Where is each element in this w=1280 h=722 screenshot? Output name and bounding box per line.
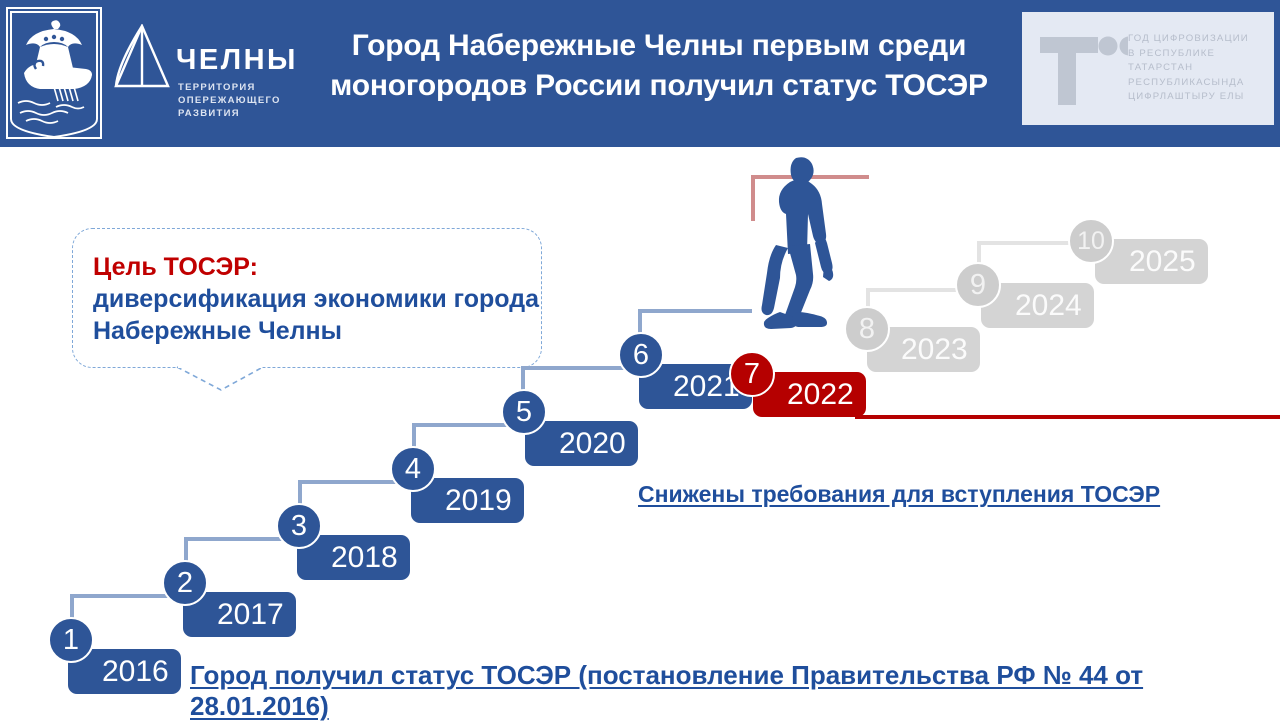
step-number-label: 9 [970, 269, 986, 302]
city-boat-emblem-icon [6, 7, 102, 139]
step-number-label: 7 [744, 358, 760, 391]
digital-year-badge: ГОД ЦИФРОВИЗАЦИИ В РЕСПУБЛИКЕ ТАТАРСТАН … [1022, 12, 1274, 125]
note-link-status[interactable]: Город получил статус ТОСЭР (постановлени… [190, 660, 1280, 722]
digital-year-text: ГОД ЦИФРОВИЗАЦИИ В РЕСПУБЛИКЕ ТАТАРСТАН … [1128, 32, 1249, 105]
step-circle-2[interactable]: 2 [162, 560, 208, 606]
step-circle-3[interactable]: 3 [276, 503, 322, 549]
brand-tagline: ТЕРРИТОРИЯ ОПЕРЕЖАЮЩЕГО РАЗВИТИЯ [178, 81, 287, 120]
chelny-brand-logo: ЧЕЛНЫ ТЕРРИТОРИЯ ОПЕРЕЖАЮЩЕГО РАЗВИТИЯ [112, 24, 287, 134]
step-circle-5[interactable]: 5 [501, 389, 547, 435]
step-number-label: 8 [859, 313, 875, 346]
step-circle-9[interactable]: 9 [955, 262, 1001, 308]
step-number-label: 10 [1077, 227, 1105, 256]
step-year-label: 2018 [297, 543, 398, 573]
step-circle-8[interactable]: 8 [844, 306, 890, 352]
step-number-label: 1 [63, 624, 79, 657]
step-number-label: 6 [633, 339, 649, 372]
step-circle-4[interactable]: 4 [390, 446, 436, 492]
note-link-requirements[interactable]: Снижены требования для вступления ТОСЭР [638, 481, 1160, 508]
step-year-label: 2017 [183, 600, 284, 630]
step-year-label: 2016 [68, 657, 169, 687]
step-number-label: 2 [177, 567, 193, 600]
walking-man-silhouette-icon [752, 152, 848, 332]
tatarstan-t-icon [1036, 29, 1128, 109]
step-number-label: 4 [405, 453, 421, 486]
timeline-staircase: 2016 2017 2018 2019 2020 2021 2022 2023 … [0, 147, 1280, 720]
sail-triangle-icon [112, 24, 174, 94]
step-number-label: 5 [516, 396, 532, 429]
brand-name: ЧЕЛНЫ [176, 46, 298, 75]
step-box-2020[interactable]: 2020 [525, 421, 638, 466]
header-banner: ЧЕЛНЫ ТЕРРИТОРИЯ ОПЕРЕЖАЮЩЕГО РАЗВИТИЯ Г… [0, 0, 1280, 147]
step-circle-1[interactable]: 1 [48, 617, 94, 663]
step-year-label: 2020 [525, 429, 626, 459]
step-year-label: 2021 [639, 372, 740, 402]
red-baseline-rail [855, 415, 1280, 419]
step-year-label: 2019 [411, 486, 512, 516]
step-circle-6[interactable]: 6 [618, 332, 664, 378]
step-number-label: 3 [291, 510, 307, 543]
step-circle-7[interactable]: 7 [729, 351, 775, 397]
page-title: Город Набережные Челны первым среди моно… [296, 26, 1022, 106]
step-circle-10[interactable]: 10 [1068, 218, 1114, 264]
